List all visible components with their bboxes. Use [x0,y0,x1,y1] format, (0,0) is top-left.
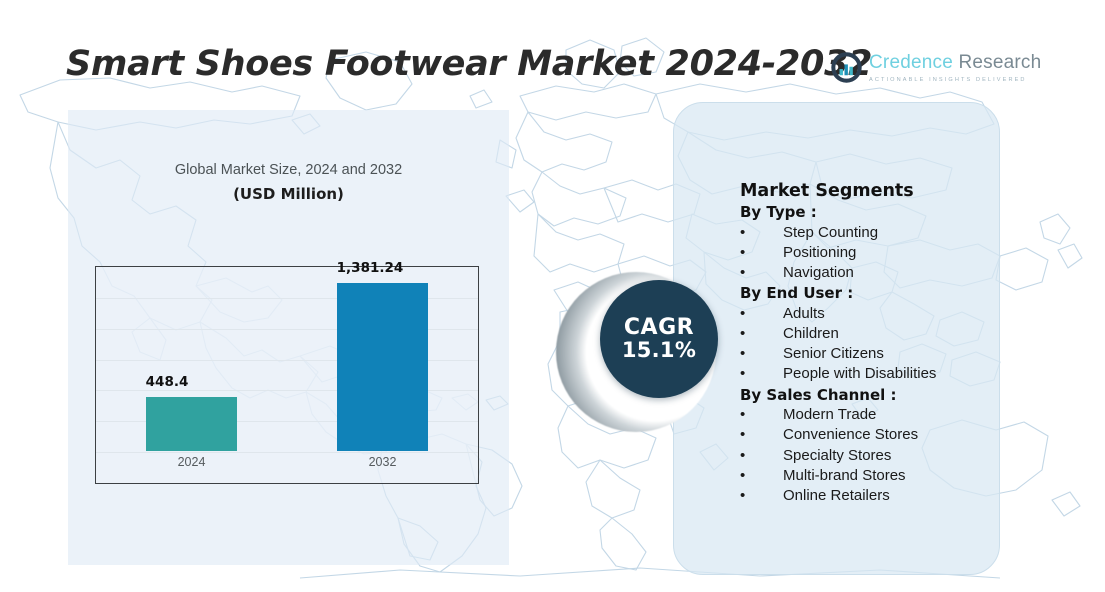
bullet-icon: • [740,405,748,425]
segment-group-title: By End User : [740,283,1010,304]
segment-item-label: Specialty Stores [783,446,891,466]
segment-item-label: Positioning [783,243,856,263]
bullet-icon: • [740,243,748,263]
segments-heading: Market Segments [740,181,1010,202]
cagr-label: CAGR [624,316,694,339]
segment-item-label: Step Counting [783,223,878,243]
page-title: Smart Shoes Footwear Market 2024-2032 [66,44,872,84]
cagr-value: 15.1% [622,339,696,362]
segment-list-item: •Online Retailers [740,486,1010,506]
chart-subtitle: (USD Million) [68,185,509,203]
segment-list-item: •Modern Trade [740,405,1010,425]
bar-group: 1,381.24 [337,275,429,451]
cagr-badge: CAGR 15.1% [556,272,726,442]
segment-item-label: Navigation [783,263,854,283]
segment-item-label: Adults [783,304,825,324]
bullet-icon: • [740,364,748,384]
infographic-canvas: Smart Shoes Footwear Market 2024-2032 Cr… [0,0,1105,592]
market-segments: Market Segments By Type :•Step Counting•… [740,181,1010,506]
segment-list-item: •Specialty Stores [740,446,1010,466]
segment-list-item: •Adults [740,304,1010,324]
chart-category-labels: 20242032 [96,455,478,477]
segment-item-label: Children [783,324,839,344]
bar: 1,381.24 [337,283,429,451]
bullet-icon: • [740,324,748,344]
chart-gridline [96,452,478,453]
segment-list-item: •Navigation [740,263,1010,283]
segment-item-label: Convenience Stores [783,425,918,445]
brand-name-first: Credence [869,52,953,73]
chart-bars: 448.41,381.24 [96,275,478,451]
bar: 448.4 [146,397,238,451]
bar-chart-circle-icon [831,52,862,83]
bar-value-label: 1,381.24 [337,260,404,276]
chart-title: Global Market Size, 2024 and 2032 [68,162,509,178]
category-label: 2024 [96,455,287,469]
brand-logo-text: Credence Research Actionable Insights De… [869,53,1041,83]
segment-item-label: Multi-brand Stores [783,466,906,486]
segment-item-label: Online Retailers [783,486,890,506]
segment-list-item: •Positioning [740,243,1010,263]
brand-name: Credence Research [869,53,1041,72]
bullet-icon: • [740,304,748,324]
category-label: 2032 [287,455,478,469]
segment-group-title: By Sales Channel : [740,385,1010,406]
segment-list-item: •Step Counting [740,223,1010,243]
segment-list-item: •Senior Citizens [740,344,1010,364]
segment-item-label: Senior Citizens [783,344,884,364]
segment-group-title: By Type : [740,202,1010,223]
bullet-icon: • [740,466,748,486]
segment-list-item: •Convenience Stores [740,425,1010,445]
segment-item-label: People with Disabilities [783,364,936,384]
bullet-icon: • [740,263,748,283]
bullet-icon: • [740,446,748,466]
cagr-circle: CAGR 15.1% [600,280,718,398]
bullet-icon: • [740,425,748,445]
bullet-icon: • [740,344,748,364]
bar-chart: 448.41,381.24 20242032 [95,266,479,484]
bar-value-label: 448.4 [146,374,189,390]
brand-tagline: Actionable Insights Delivered [869,77,1041,83]
segments-groups: By Type :•Step Counting•Positioning•Navi… [740,202,1010,506]
brand-logo: Credence Research Actionable Insights De… [831,52,1041,83]
segment-item-label: Modern Trade [783,405,876,425]
brand-name-second: Research [958,52,1041,73]
segment-list-item: •People with Disabilities [740,364,1010,384]
bar-group: 448.4 [146,275,238,451]
segment-list-item: •Children [740,324,1010,344]
bullet-icon: • [740,223,748,243]
segment-list-item: •Multi-brand Stores [740,466,1010,486]
bullet-icon: • [740,486,748,506]
